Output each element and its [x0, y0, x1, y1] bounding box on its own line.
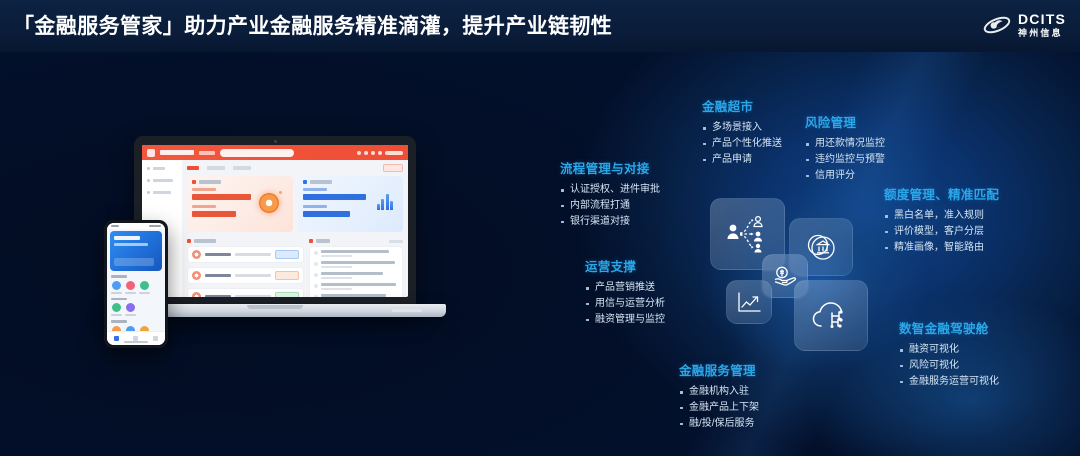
- grid-item-label: [111, 314, 122, 316]
- laptop-screen: [142, 145, 408, 297]
- bank-coin-icon: [805, 231, 837, 263]
- grid-item[interactable]: [139, 281, 150, 294]
- callout-risk-management: 风险管理 用还款情况监控 违约监控与预警 信用评分: [805, 112, 885, 183]
- slide-canvas: 「金融服务管家」助力产业金融服务精准滴灌，提升产业链韧性 DCITS 神州信息 …: [0, 0, 1080, 456]
- item-status-icon: [192, 250, 201, 259]
- list-item: 精准画像，智能路由: [884, 240, 999, 256]
- metric-label: [303, 188, 327, 191]
- metric-value: [303, 211, 351, 217]
- sidebar-item-icon: [147, 179, 150, 182]
- card-title: [199, 180, 221, 184]
- help-icon[interactable]: [364, 151, 368, 155]
- page-title: 「金融服务管家」助力产业金融服务精准滴灌，提升产业链韧性: [13, 10, 612, 40]
- news-text: [321, 272, 398, 279]
- grid-item-icon: [126, 281, 135, 290]
- tab-profile-icon[interactable]: [153, 336, 158, 341]
- header-bar: 「金融服务管家」助力产业金融服务精准滴灌，提升产业链韧性 DCITS 神州信息: [0, 0, 1080, 52]
- sidebar-item[interactable]: [147, 179, 177, 182]
- news-text: [321, 261, 398, 268]
- sidebar-item-icon: [147, 191, 150, 194]
- list-item: 多场景接入: [702, 120, 782, 136]
- section-marker-icon: [309, 239, 313, 243]
- list-item: 融资管理与监控: [585, 312, 665, 328]
- tab-third[interactable]: [233, 166, 251, 170]
- news-text: [321, 294, 398, 297]
- list-item: 融/投/保后服务: [679, 416, 759, 432]
- dashboard-brand: [160, 150, 194, 155]
- section-label: [111, 275, 127, 278]
- item-desc: [235, 274, 271, 277]
- card-header: [303, 180, 399, 184]
- cloud-tech-icon: [808, 296, 854, 336]
- phone-mockup: [104, 220, 168, 348]
- sidebar-item-label: [153, 179, 173, 182]
- list-item[interactable]: [187, 267, 304, 284]
- item-title: [205, 295, 231, 297]
- grid-item-icon: [112, 303, 121, 312]
- gear-icon[interactable]: [371, 151, 375, 155]
- news-list: [309, 246, 403, 297]
- callout-heading: 额度管理、精准匹配: [884, 184, 999, 203]
- metric-value: [192, 194, 251, 200]
- dashboard-topbar: [142, 145, 408, 160]
- list-item: 违约监控与预警: [805, 152, 885, 168]
- section-title: [194, 239, 216, 243]
- list-item: 用信与运营分析: [585, 296, 665, 312]
- card-header: [192, 180, 288, 184]
- app-section-1: [111, 275, 161, 294]
- avatar[interactable]: [378, 151, 382, 155]
- callout-process-management: 流程管理与对接 认证授权、进件审批 内部流程打通 银行渠道对接: [560, 158, 660, 229]
- bar-chart-icon: [377, 192, 394, 210]
- laptop-camera: [274, 140, 277, 143]
- news-item[interactable]: [314, 272, 398, 279]
- callout-list: 融资可视化 风险可视化 金融服务运营可视化: [899, 342, 999, 389]
- grid-item[interactable]: [125, 303, 136, 316]
- list-item: 融资可视化: [899, 342, 999, 358]
- callout-heading: 流程管理与对接: [560, 158, 660, 177]
- section-label: [111, 298, 127, 301]
- icon-grid: [111, 303, 161, 316]
- list-item: 产品个性化推送: [702, 136, 782, 152]
- tab-overview[interactable]: [187, 166, 199, 170]
- process-list-section: [187, 236, 304, 297]
- callout-operations-support: 运营支撑 产品营销推送 用信与运营分析 融资管理与监控: [585, 256, 665, 327]
- grid-item-label: [111, 292, 122, 294]
- callout-heading: 金融服务管理: [679, 360, 759, 379]
- metric-label: [303, 205, 327, 208]
- sidebar-item[interactable]: [147, 167, 177, 170]
- item-desc: [235, 295, 271, 297]
- progress-ring-icon: [259, 193, 279, 213]
- sidebar-item[interactable]: [147, 191, 177, 194]
- grid-item-label: [139, 292, 150, 294]
- list-item: 风险可视化: [899, 358, 999, 374]
- grid-item-icon: [140, 281, 149, 290]
- logo-text-cn: 神州信息: [1018, 29, 1066, 38]
- news-item[interactable]: [314, 261, 398, 268]
- phone-home-indicator: [124, 341, 148, 343]
- callout-financial-supermarket: 金融超市 多场景接入 产品个性化推送 产品申请: [702, 96, 782, 167]
- grid-item[interactable]: [111, 281, 122, 294]
- laptop-trackpad-notch: [247, 305, 303, 309]
- news-bullet-icon: [314, 273, 318, 277]
- cluster-tile-chart: [726, 280, 772, 324]
- view-more-link[interactable]: [389, 240, 403, 243]
- section-title: [316, 239, 330, 243]
- item-desc: [235, 253, 271, 256]
- dashboard-lower-sections: [187, 236, 403, 297]
- sidebar-item-label: [153, 167, 165, 170]
- logo-wordmark: DCITS 神州信息: [1018, 12, 1066, 38]
- news-item[interactable]: [314, 283, 398, 290]
- card-marker-icon: [192, 180, 196, 184]
- section-header: [309, 239, 403, 243]
- logo-text-en: DCITS: [1018, 12, 1066, 26]
- dashboard-user-name[interactable]: [385, 151, 403, 155]
- news-bullet-icon: [314, 262, 318, 266]
- news-bullet-icon: [314, 295, 318, 297]
- banner-subtitle: [114, 243, 148, 246]
- sidebar-item-label: [153, 191, 171, 194]
- dashboard-action-button[interactable]: [383, 164, 403, 172]
- grid-item-label: [125, 292, 136, 294]
- tab-second[interactable]: [207, 166, 225, 170]
- callout-digital-finance-cockpit: 数智金融驾驶舱 融资可视化 风险可视化 金融服务运营可视化: [899, 318, 999, 389]
- list-item: 金融机构入驻: [679, 384, 759, 400]
- news-text: [321, 283, 398, 290]
- banner-widget: [114, 258, 154, 266]
- swoosh-orbit-icon: [982, 12, 1012, 38]
- list-item: 认证授权、进件审批: [560, 182, 660, 198]
- list-item: 内部流程打通: [560, 198, 660, 214]
- list-item: 信用评分: [805, 168, 885, 184]
- callout-heading: 数智金融驾驶舱: [899, 318, 999, 337]
- callout-quota-matching: 额度管理、精准匹配 黑白名单，准入规则 评价模型，客户分层 精准画像，智能路由: [884, 184, 999, 255]
- news-bullet-icon: [314, 284, 318, 288]
- dashboard-search-input[interactable]: [220, 149, 294, 157]
- grid-item[interactable]: [125, 281, 136, 294]
- news-text: [321, 250, 398, 257]
- dashboard-topbar-actions: [357, 151, 403, 155]
- item-action-button[interactable]: [275, 292, 299, 297]
- dashboard-content: [182, 160, 408, 297]
- growth-chart-icon: [736, 290, 763, 315]
- icon-grid: [111, 281, 161, 294]
- money-hand-icon: [772, 264, 798, 288]
- dashboard-nav-item[interactable]: [199, 151, 215, 155]
- list-item: 评价模型，客户分层: [884, 224, 999, 240]
- item-title: [205, 274, 231, 278]
- news-item[interactable]: [314, 250, 398, 257]
- metric-value: [303, 194, 366, 200]
- stat-card-credit: [298, 176, 404, 232]
- bell-icon[interactable]: [357, 151, 361, 155]
- callout-heading: 风险管理: [805, 112, 885, 131]
- people-network-icon: [725, 213, 771, 255]
- sidebar-item-icon: [147, 167, 150, 170]
- dashboard-logo-icon: [147, 149, 155, 157]
- item-status-icon: [192, 271, 201, 280]
- section-label: [111, 320, 127, 323]
- grid-item-icon: [126, 303, 135, 312]
- center-icon-cluster: [705, 196, 875, 356]
- banner-title: [114, 236, 140, 240]
- callout-list: 认证授权、进件审批 内部流程打通 银行渠道对接: [560, 182, 660, 229]
- list-item: 金融产品上下架: [679, 400, 759, 416]
- laptop-mockup: [134, 136, 416, 308]
- grid-item-icon: [112, 281, 121, 290]
- list-item: 黑白名单，准入规则: [884, 208, 999, 224]
- cluster-tile-cloud: [794, 280, 868, 351]
- card-title: [310, 180, 332, 184]
- news-bullet-icon: [314, 251, 318, 255]
- status-icons: [149, 225, 161, 227]
- laptop-foot: [392, 309, 422, 312]
- dashboard-tabs: [187, 164, 403, 172]
- list-item[interactable]: [187, 288, 304, 297]
- app-hero-banner: [110, 231, 162, 271]
- callout-list: 金融机构入驻 金融产品上下架 融/投/保后服务: [679, 384, 759, 431]
- phone-status-bar: [107, 223, 165, 229]
- tab-home-icon[interactable]: [114, 336, 119, 341]
- callout-heading: 金融超市: [702, 96, 782, 115]
- dashboard-stat-cards: [187, 176, 403, 232]
- callout-heading: 运营支撑: [585, 256, 665, 275]
- list-item: 产品申请: [702, 152, 782, 168]
- metric-value: [192, 211, 236, 217]
- callout-list: 多场景接入 产品个性化推送 产品申请: [702, 120, 782, 167]
- list-item: 用还款情况监控: [805, 136, 885, 152]
- callout-list: 产品营销推送 用信与运营分析 融资管理与监控: [585, 280, 665, 327]
- list-item: 金融服务运营可视化: [899, 374, 999, 390]
- clock: [111, 225, 119, 227]
- section-marker-icon: [187, 239, 191, 243]
- stat-card-financing: [187, 176, 293, 232]
- callout-list: 黑白名单，准入规则 评价模型，客户分层 精准画像，智能路由: [884, 208, 999, 255]
- brand-logo: DCITS 神州信息: [982, 8, 1066, 42]
- news-list-section: [309, 236, 403, 297]
- list-item: 银行渠道对接: [560, 214, 660, 230]
- callout-financial-service-management: 金融服务管理 金融机构入驻 金融产品上下架 融/投/保后服务: [679, 360, 759, 431]
- list-item[interactable]: [187, 246, 304, 263]
- grid-item[interactable]: [111, 303, 122, 316]
- callout-list: 用还款情况监控 违约监控与预警 信用评分: [805, 136, 885, 183]
- news-item[interactable]: [314, 294, 398, 297]
- list-item: 产品营销推送: [585, 280, 665, 296]
- device-mockups: [104, 136, 450, 348]
- finance-dashboard-screen: [142, 145, 408, 297]
- metric-label: [192, 205, 216, 208]
- finance-app-screen: [107, 223, 165, 345]
- app-section-2: [111, 298, 161, 317]
- item-title: [205, 253, 231, 257]
- item-action-button[interactable]: [275, 250, 299, 259]
- metric-label: [192, 188, 216, 191]
- grid-item-label: [125, 314, 136, 316]
- item-status-icon: [192, 292, 201, 297]
- item-action-button[interactable]: [275, 271, 299, 280]
- section-header: [187, 239, 304, 243]
- card-marker-icon: [303, 180, 307, 184]
